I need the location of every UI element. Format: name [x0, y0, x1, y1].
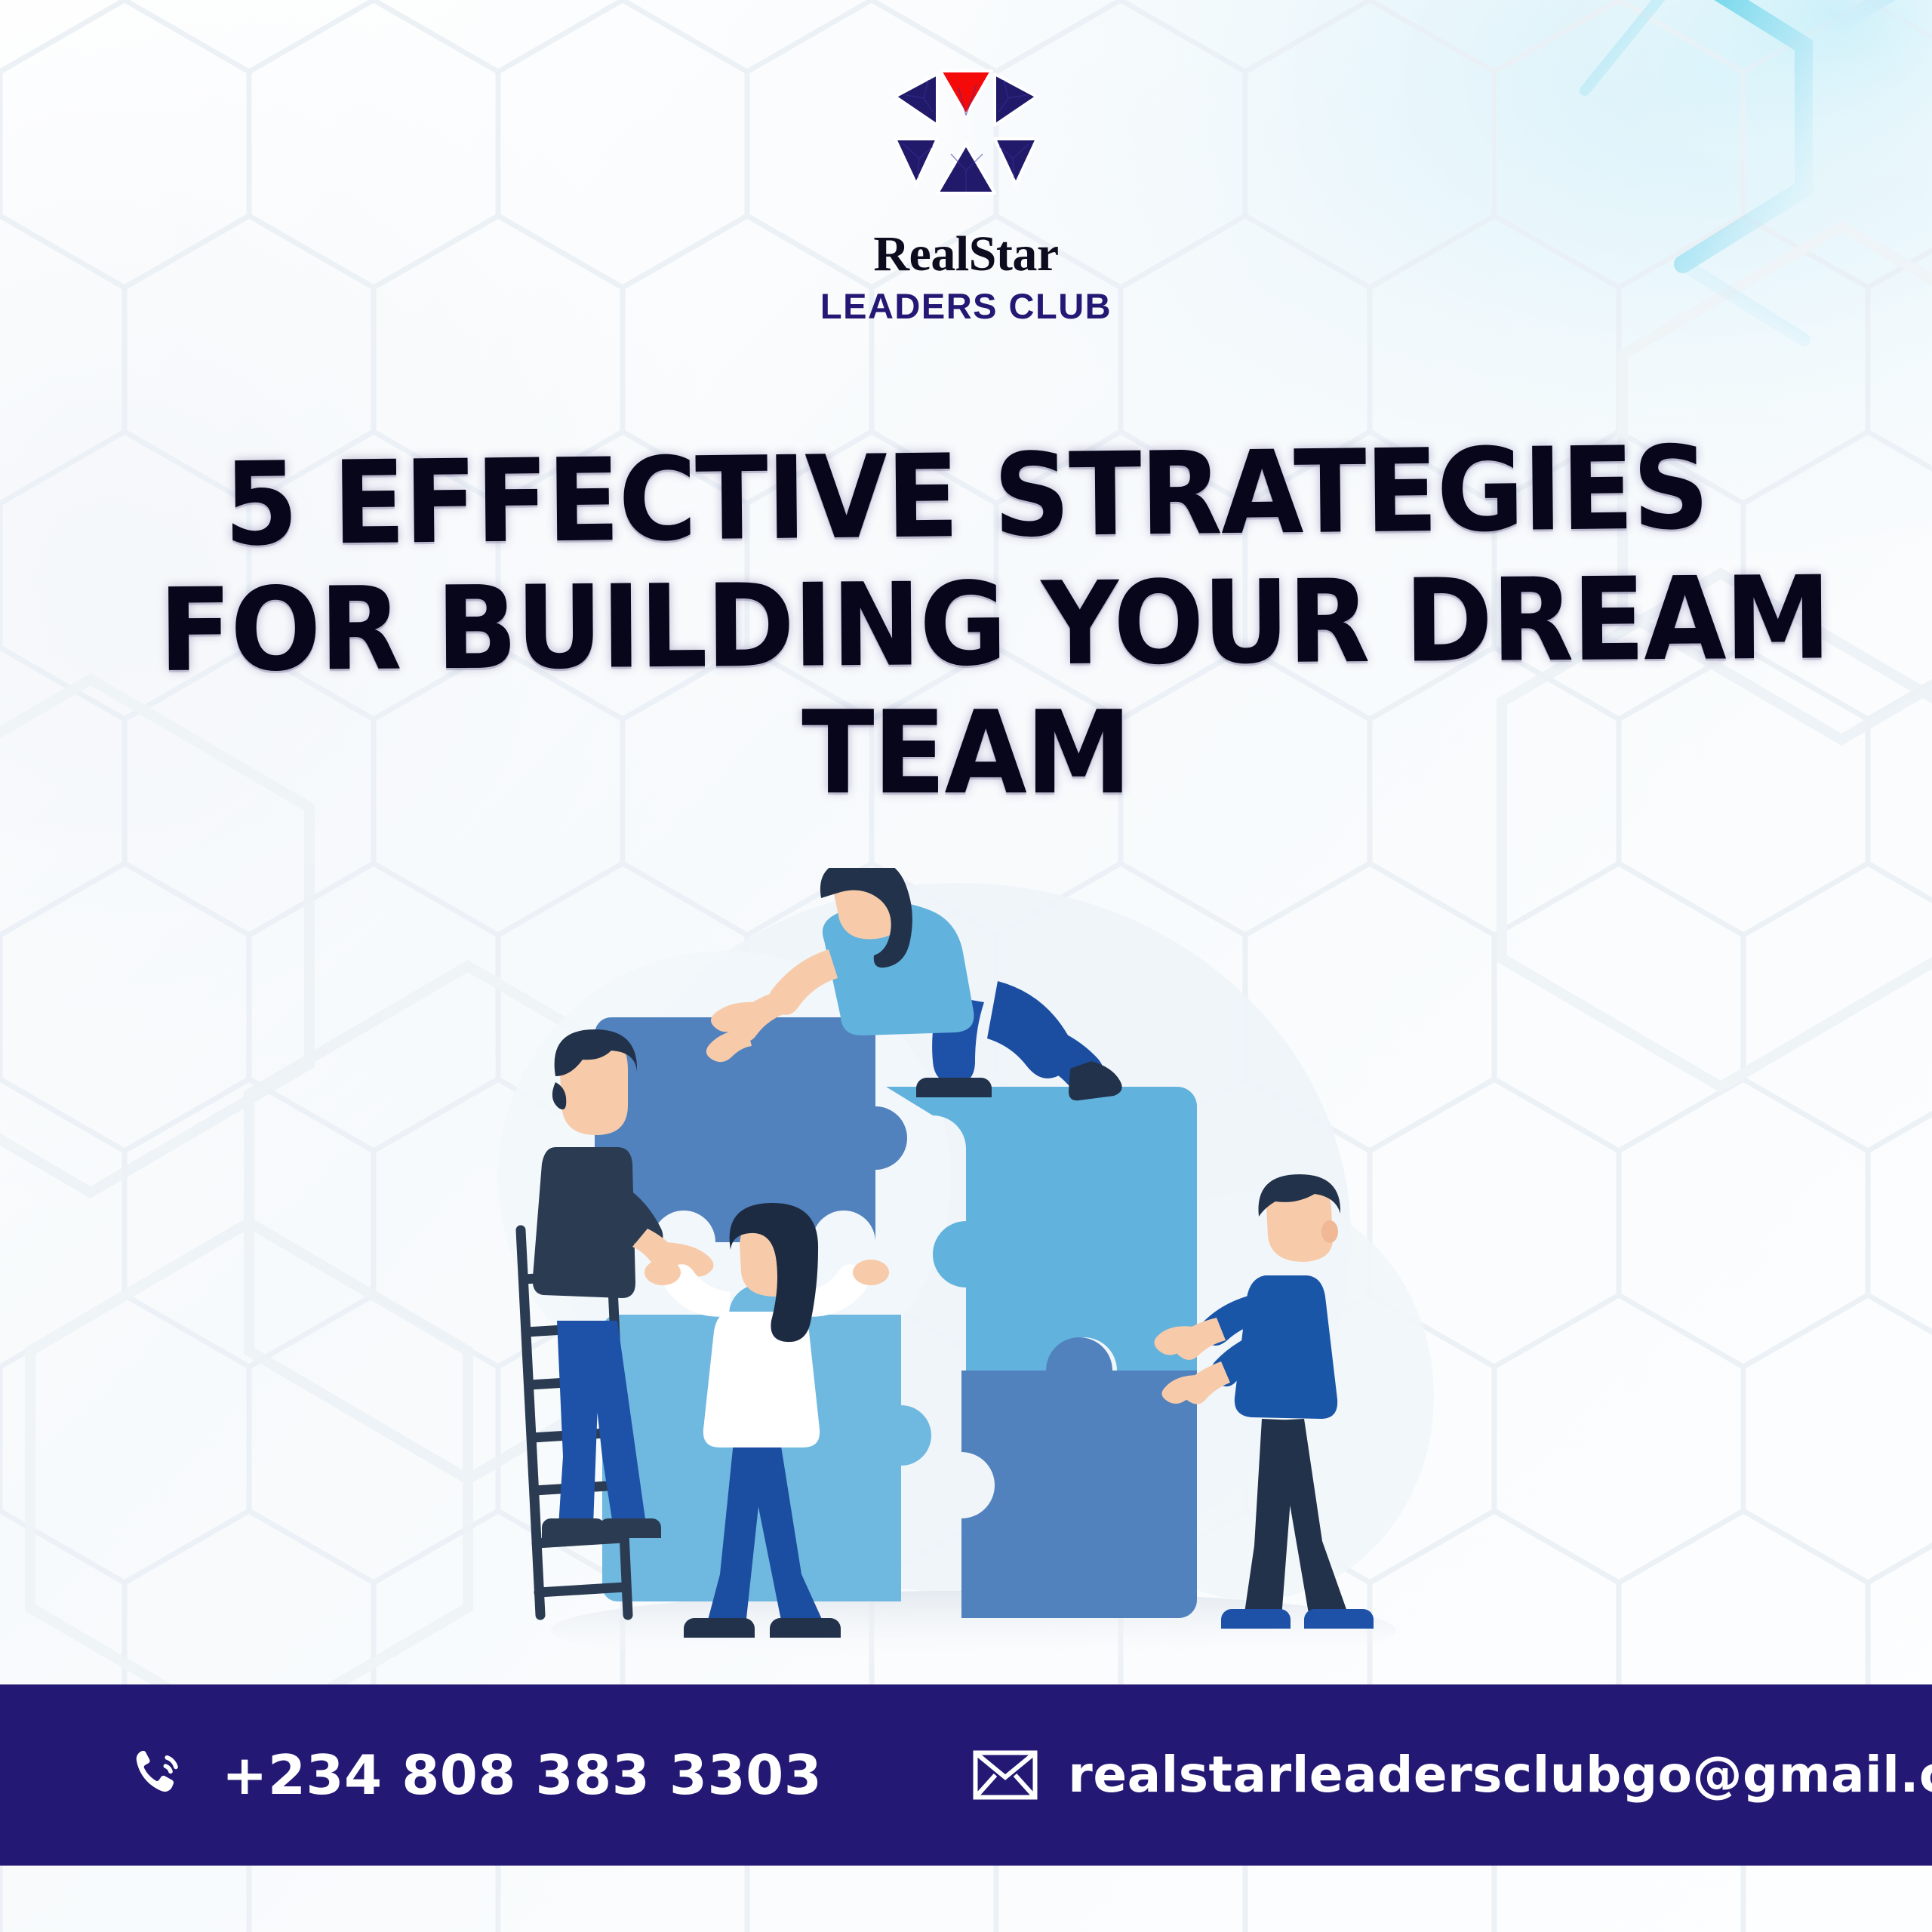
hexagon-triangles-logo-icon [883, 65, 1049, 216]
headline: 5 EFFECTIVE STRATEGIES FOR BUILDING YOUR… [98, 441, 1834, 808]
contact-phone[interactable]: +234 808 383 3303 [128, 1684, 822, 1866]
email-address: realstarleadersclubgo@gmail.com [1068, 1750, 1932, 1800]
headline-line-1: 5 EFFECTIVE STRATEGIES [158, 432, 1774, 561]
teamwork-puzzle-illustration [491, 868, 1441, 1713]
headline-line-2: FOR BUILDING YOUR DREAM [158, 564, 1774, 686]
brand-subtitle: LEADERS CLUB [820, 288, 1112, 324]
poster-canvas: RealStar LEADERS CLUB 5 EFFECTIVE STRATE… [0, 0, 1932, 1932]
phone-number: +234 808 383 3303 [222, 1748, 822, 1802]
contact-footer-bar: +234 808 383 3303 realstarleadersclubgo@… [0, 1684, 1932, 1866]
puzzle-people-graphic [491, 868, 1441, 1713]
brand-logo: RealStar LEADERS CLUB [0, 65, 1932, 324]
headline-line-3: TEAM [159, 698, 1774, 808]
puzzle-piece-bottom-right [961, 1337, 1197, 1618]
contact-email[interactable]: realstarleadersclubgo@gmail.com [973, 1684, 1932, 1866]
brand-name: RealStar [873, 229, 1058, 279]
envelope-icon [973, 1750, 1038, 1800]
phone-handset-icon [128, 1745, 189, 1805]
